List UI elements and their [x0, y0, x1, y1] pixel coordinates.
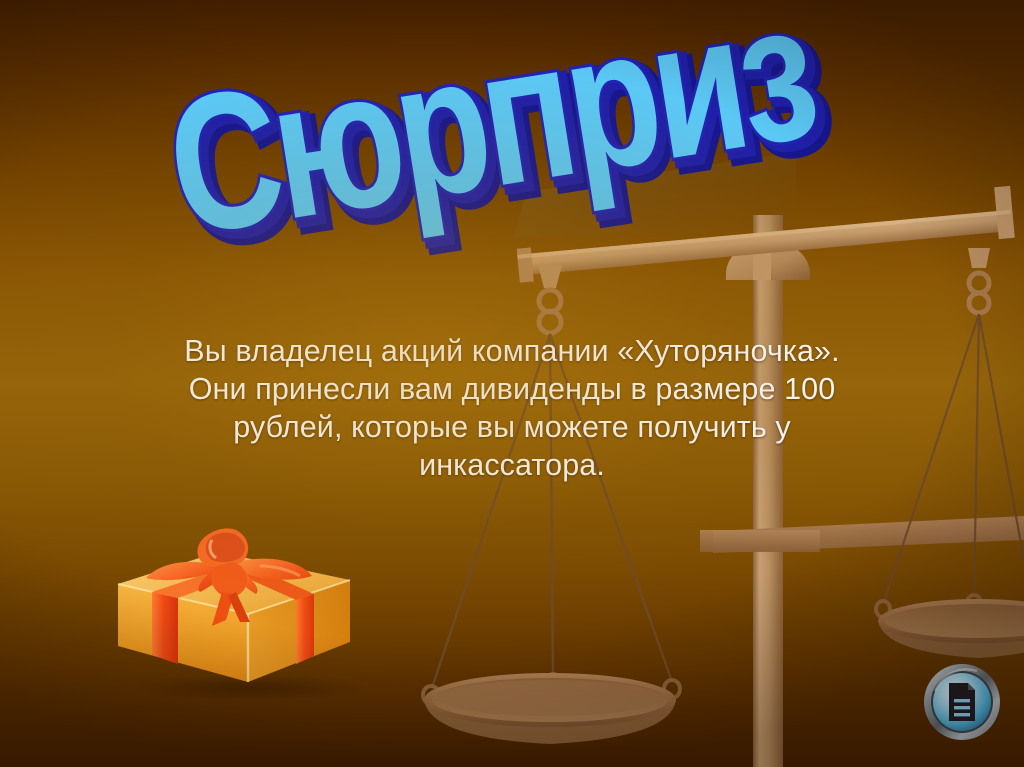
- slide-body-text: Вы владелец акций компании «Хуторяночка»…: [62, 332, 962, 484]
- document-badge-button[interactable]: [921, 661, 1003, 743]
- document-icon: [949, 683, 975, 721]
- presentation-slide: Сюрприз Сюрприз Сюрприз: [0, 0, 1024, 767]
- gift-box-illustration: [100, 522, 368, 698]
